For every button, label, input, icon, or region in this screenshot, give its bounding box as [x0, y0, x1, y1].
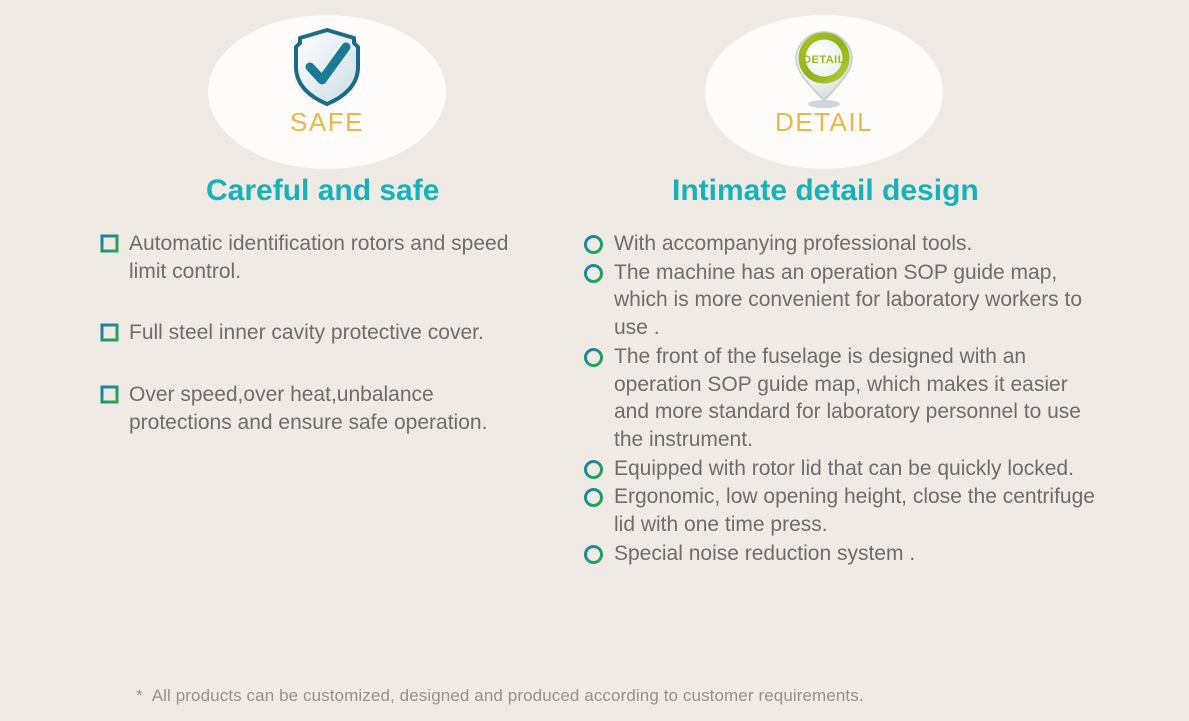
list-item-text: Full steel inner cavity protective cover… — [129, 319, 540, 347]
list-item: The machine has an operation SOP guide m… — [583, 259, 1103, 342]
list-item: Equipped with rotor lid that can be quic… — [583, 455, 1103, 483]
list-item: Automatic identification rotors and spee… — [100, 230, 540, 285]
list-item: With accompanying professional tools. — [583, 230, 1103, 258]
badge-row: SAFE — [0, 0, 1189, 175]
list-item-text: Ergonomic, low opening height, close the… — [614, 483, 1103, 538]
square-outline-bullet-icon — [100, 385, 119, 404]
footnote-text: All products can be customized, designed… — [152, 686, 864, 705]
column-intimate-detail-design: With accompanying professional tools. Th… — [583, 230, 1103, 569]
circle-outline-bullet-icon — [583, 487, 604, 508]
list-item: The front of the fuselage is designed wi… — [583, 343, 1103, 454]
heading-intimate-detail-design: Intimate detail design — [672, 176, 979, 206]
svg-text:DETAIL: DETAIL — [803, 54, 845, 66]
footnote-asterisk: * — [136, 686, 143, 705]
square-outline-bullet-icon — [100, 323, 119, 342]
list-item-text: The machine has an operation SOP guide m… — [614, 259, 1103, 342]
column-careful-and-safe: Automatic identification rotors and spee… — [100, 230, 540, 437]
square-outline-bullet-icon — [100, 234, 119, 253]
feature-list-left: Automatic identification rotors and spee… — [100, 230, 540, 437]
shield-check-icon — [290, 27, 364, 107]
footnote: *All products can be customized, designe… — [136, 686, 864, 706]
list-item: Full steel inner cavity protective cover… — [100, 319, 540, 347]
list-item-text: With accompanying professional tools. — [614, 230, 1103, 258]
list-item-text: Over speed,over heat,unbalance protectio… — [129, 381, 540, 436]
list-item: Over speed,over heat,unbalance protectio… — [100, 381, 540, 436]
badge-word-safe: SAFE — [290, 109, 364, 135]
badge-safe: SAFE — [208, 15, 446, 169]
circle-outline-bullet-icon — [583, 459, 604, 480]
list-item-text: Equipped with rotor lid that can be quic… — [614, 455, 1103, 483]
badge-detail: DETAIL DETAIL — [705, 15, 943, 169]
list-item-text: Special noise reduction system . — [614, 540, 1103, 568]
circle-outline-bullet-icon — [583, 234, 604, 255]
feature-page: SAFE — [0, 0, 1189, 721]
feature-list-right: With accompanying professional tools. Th… — [583, 230, 1103, 568]
list-item-text: Automatic identification rotors and spee… — [129, 230, 540, 285]
map-pin-detail-icon: DETAIL — [787, 27, 861, 107]
circle-outline-bullet-icon — [583, 263, 604, 284]
list-item: Special noise reduction system . — [583, 540, 1103, 568]
heading-careful-and-safe: Careful and safe — [206, 176, 439, 206]
circle-outline-bullet-icon — [583, 544, 604, 565]
list-item: Ergonomic, low opening height, close the… — [583, 483, 1103, 538]
list-item-text: The front of the fuselage is designed wi… — [614, 343, 1103, 454]
circle-outline-bullet-icon — [583, 347, 604, 368]
badge-word-detail: DETAIL — [775, 109, 873, 135]
